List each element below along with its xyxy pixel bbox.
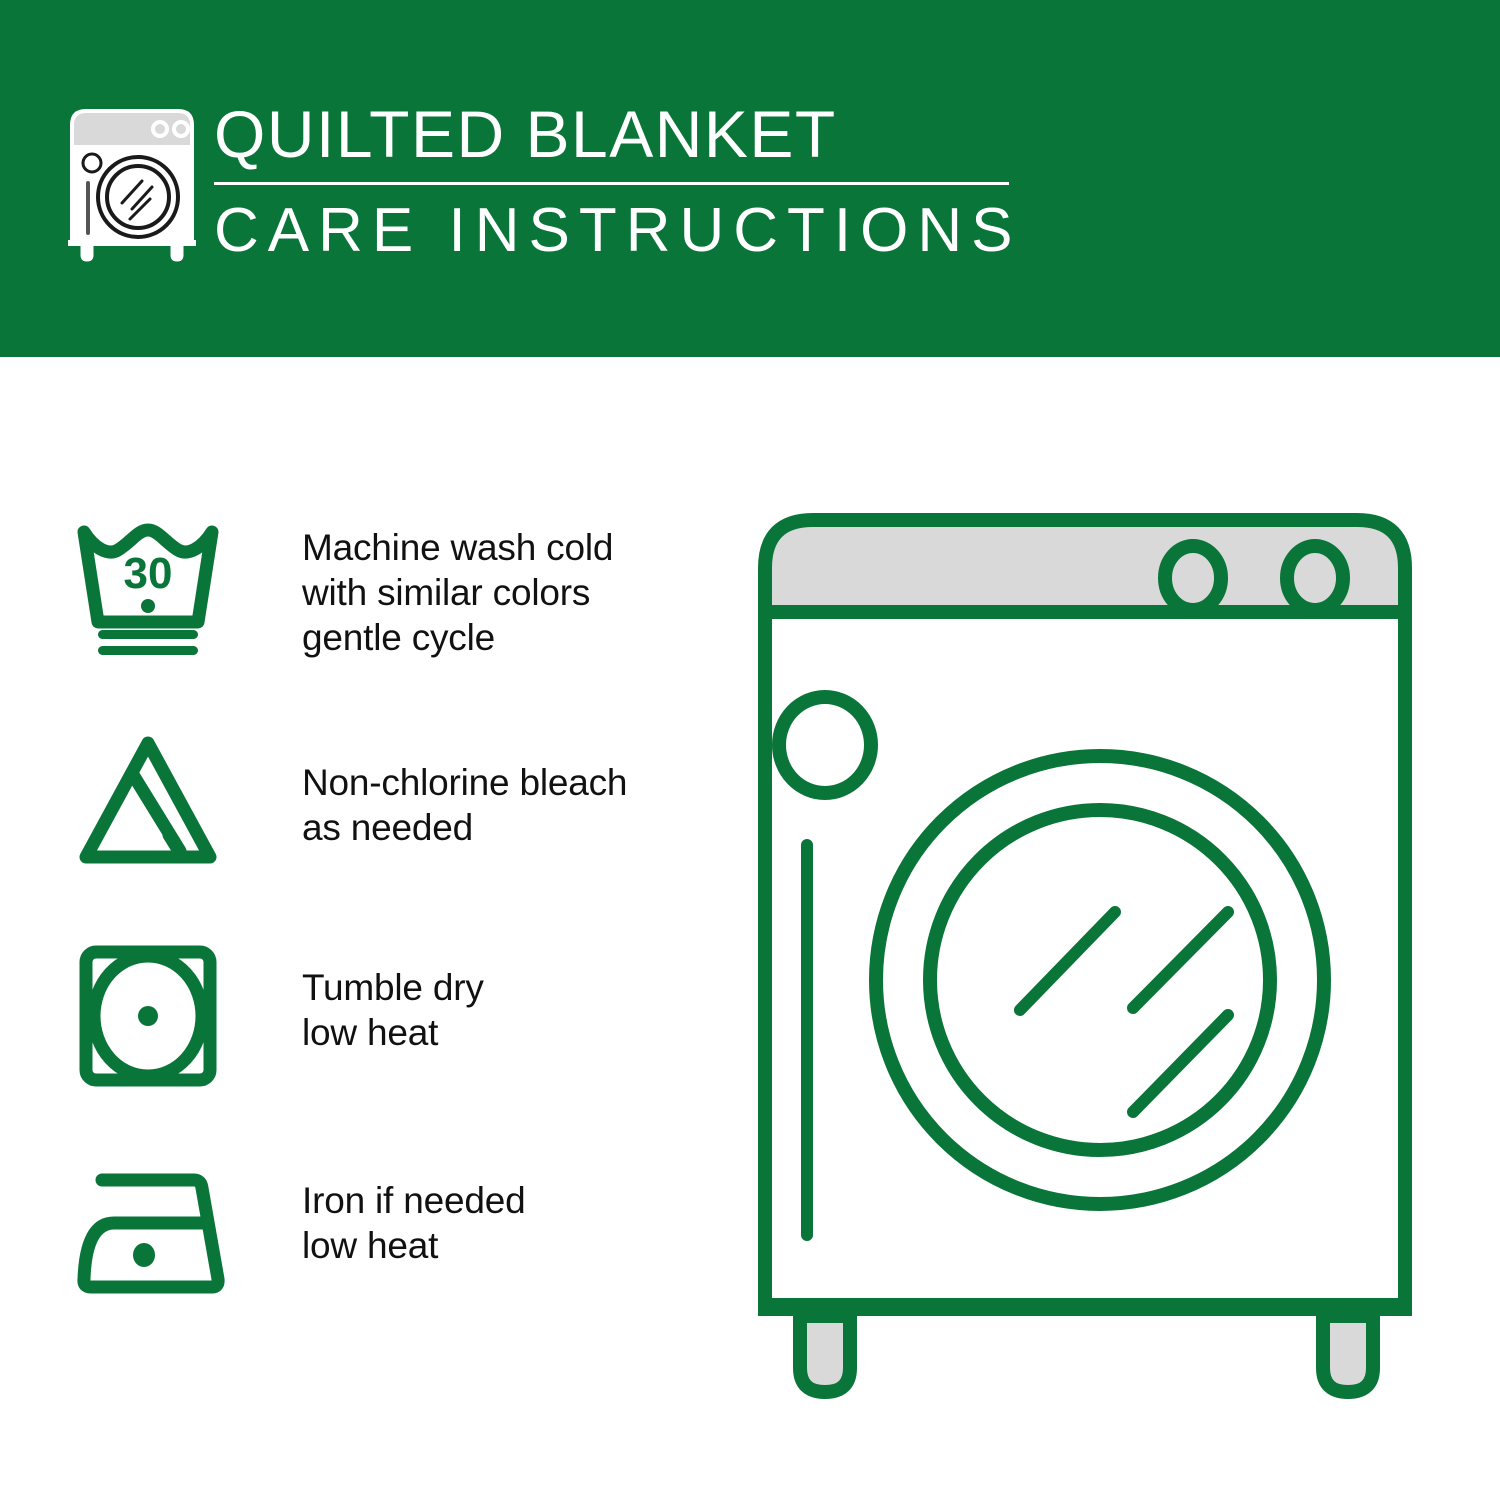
list-item: Tumble dry low heat <box>70 935 710 1150</box>
list-item-label: Tumble dry low heat <box>242 935 484 1055</box>
list-item: 30 Machine wash cold with similar colors… <box>70 505 710 720</box>
machine-leg-left <box>800 1316 850 1392</box>
machine-control-panel <box>765 520 1405 612</box>
list-item-line: low heat <box>302 1010 484 1055</box>
list-item-line: with similar colors <box>302 570 613 615</box>
wash-temperature-value: 30 <box>124 549 173 598</box>
list-item-line: as needed <box>302 805 627 850</box>
list-item-line: Non-chlorine bleach <box>302 760 627 805</box>
page-subtitle: CARE INSTRUCTIONS <box>214 195 1024 267</box>
machine-leg-right <box>1323 1316 1373 1392</box>
list-item: Non-chlorine bleach as needed <box>70 720 710 935</box>
care-instructions-page: QUILTED BLANKET CARE INSTRUCTIONS 30 <box>0 0 1500 1500</box>
list-item-label: Machine wash cold with similar colors ge… <box>242 505 613 660</box>
header-divider <box>214 182 1009 185</box>
list-item: Iron if needed low heat <box>70 1150 710 1365</box>
header-band: QUILTED BLANKET CARE INSTRUCTIONS <box>0 0 1500 357</box>
list-item-line: Iron if needed <box>302 1178 525 1223</box>
wash-tub-icon: 30 <box>70 505 242 665</box>
tumble-dry-icon <box>70 935 242 1095</box>
list-item-line: Machine wash cold <box>302 525 613 570</box>
list-item-line: Tumble dry <box>302 965 484 1010</box>
washing-machine-icon <box>62 103 202 263</box>
list-item-line: low heat <box>302 1223 525 1268</box>
bleach-triangle-icon <box>70 720 242 880</box>
list-item-line: gentle cycle <box>302 615 613 660</box>
list-item-label: Iron if needed low heat <box>242 1150 525 1268</box>
iron-icon <box>70 1150 242 1310</box>
page-title: QUILTED BLANKET <box>214 96 1024 172</box>
list-item-label: Non-chlorine bleach as needed <box>242 720 627 850</box>
instruction-list: 30 Machine wash cold with similar colors… <box>70 505 710 1365</box>
washing-machine-illustration <box>745 500 1445 1410</box>
header-text-block: QUILTED BLANKET CARE INSTRUCTIONS <box>214 96 1024 267</box>
